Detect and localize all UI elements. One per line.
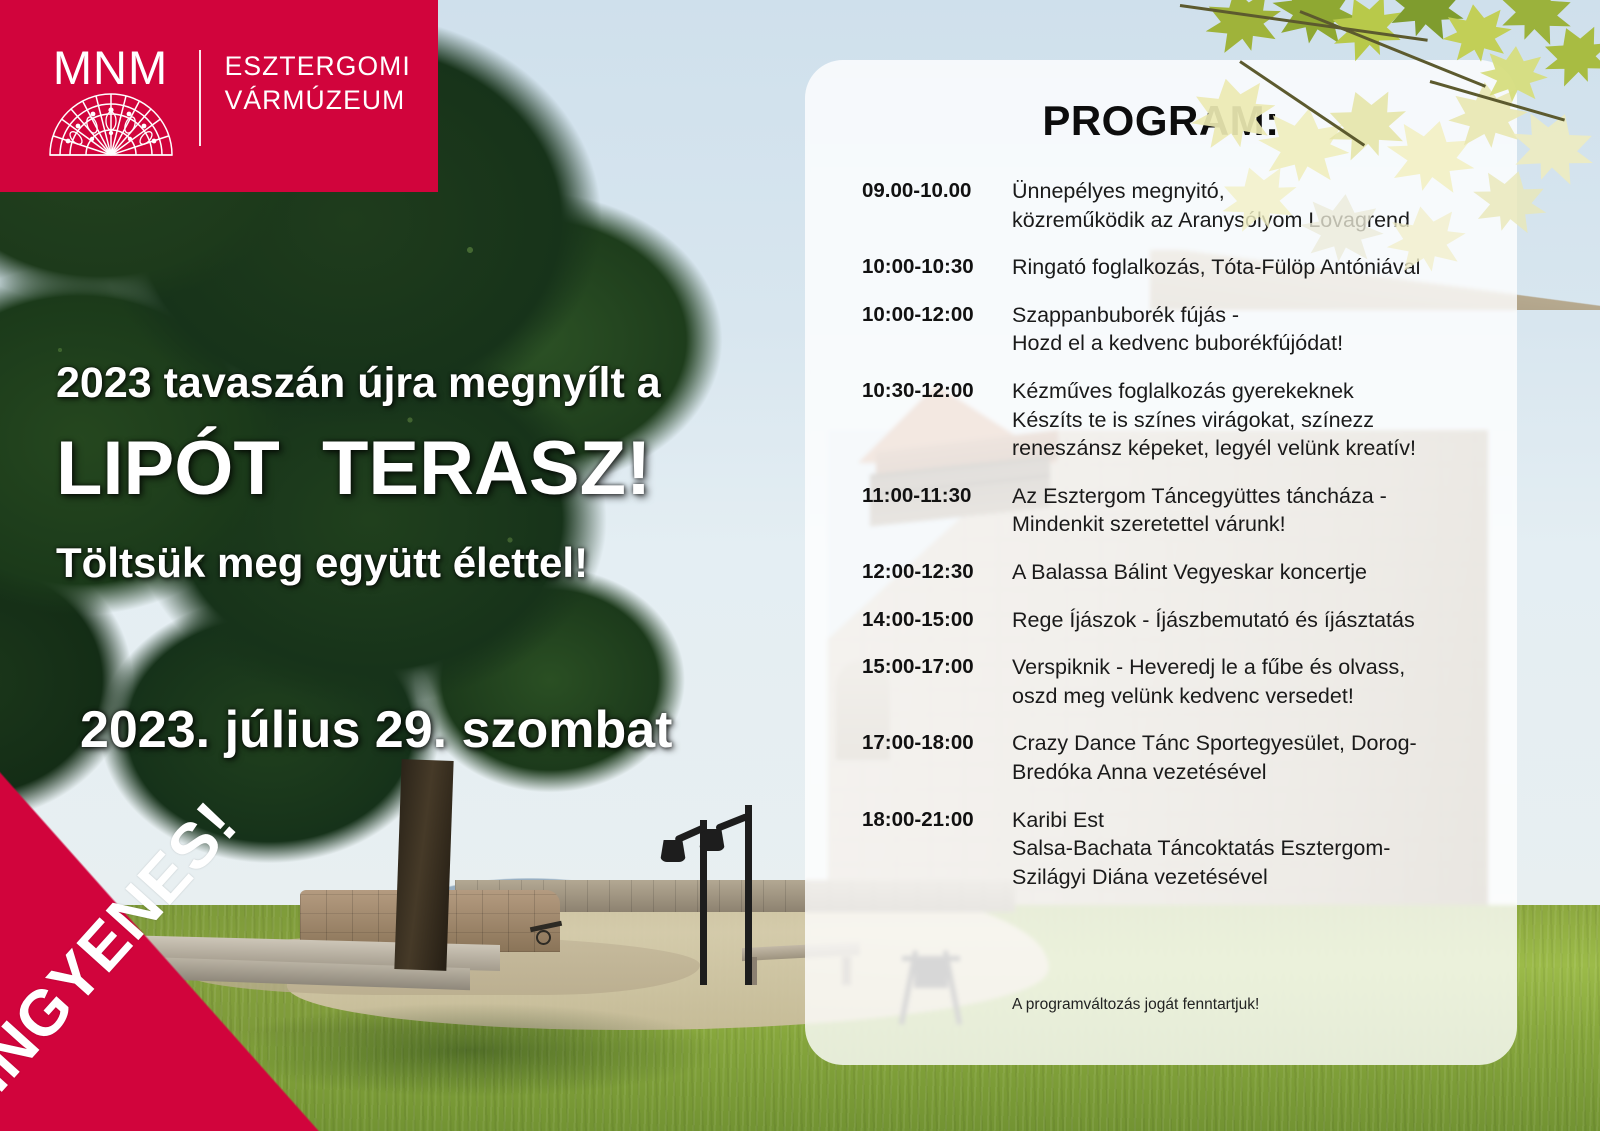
logo-divider — [199, 50, 201, 146]
program-item-description: Szappanbuborék fújás -Hozd el a kedvenc … — [1012, 301, 1343, 358]
program-item-line: Salsa-Bachata Táncoktatás Esztergom- — [1012, 834, 1390, 863]
program-item-line: oszd meg velünk kedvenc versedet! — [1012, 682, 1405, 711]
program-item-line: Bredóka Anna vezetésével — [1012, 758, 1417, 787]
headline-block: 2023 tavaszán újra megnyílt a LIPÓT TERA… — [56, 360, 756, 587]
program-item-time: 17:00-18:00 — [862, 729, 1012, 786]
museum-name-line1: ESZTERGOMI — [225, 50, 411, 84]
program-item-description: Crazy Dance Tánc Sportegyesület, Dorog-B… — [1012, 729, 1417, 786]
program-item-line: Szappanbuborék fújás - — [1012, 301, 1343, 330]
cannon-icon — [530, 920, 564, 946]
half-rosette-icon — [48, 93, 174, 157]
event-date: 2023. július 29. szombat — [80, 700, 672, 760]
museum-name: ESZTERGOMI VÁRMÚZEUM — [225, 44, 411, 118]
program-item: 11:00-11:30Az Esztergom Táncegyüttes tán… — [862, 482, 1483, 539]
program-item-description: Karibi EstSalsa-Bachata Táncoktatás Eszt… — [1012, 806, 1390, 892]
leaf-icon — [1212, 156, 1306, 241]
program-item-time: 10:00-12:00 — [862, 301, 1012, 358]
program-item-time: 12:00-12:30 — [862, 558, 1012, 587]
program-item: 17:00-18:00Crazy Dance Tánc Sportegyesül… — [862, 729, 1483, 786]
program-item: 15:00-17:00Verspiknik - Heveredj le a fű… — [862, 653, 1483, 710]
program-item-time: 10:00-10:30 — [862, 253, 1012, 282]
program-item: 10:00-12:00Szappanbuborék fújás -Hozd el… — [862, 301, 1483, 358]
program-item-description: Az Esztergom Táncegyüttes táncháza -Mind… — [1012, 482, 1387, 539]
program-item-description: Kézműves foglalkozás gyerekeknekKészíts … — [1012, 377, 1416, 463]
program-item-description: Verspiknik - Heveredj le a fűbe és olvas… — [1012, 653, 1405, 710]
logo-mark: MNM — [44, 44, 177, 157]
program-item-line: reneszánsz képeket, legyél velünk kreatí… — [1012, 434, 1416, 463]
program-item-time: 10:30-12:00 — [862, 377, 1012, 463]
leaf-icon — [1297, 190, 1388, 266]
program-item-line: Verspiknik - Heveredj le a fűbe és olvas… — [1012, 653, 1405, 682]
leaves-icon — [1180, 0, 1600, 300]
program-item-line: Az Esztergom Táncegyüttes táncháza - — [1012, 482, 1387, 511]
program-item-time: 14:00-15:00 — [862, 606, 1012, 635]
program-item-time: 18:00-21:00 — [862, 806, 1012, 892]
leaf-icon — [1381, 200, 1471, 279]
program-item-line: Crazy Dance Tánc Sportegyesület, Dorog- — [1012, 729, 1417, 758]
logo-acronym: MNM — [44, 44, 177, 91]
program-item: 18:00-21:00Karibi EstSalsa-Bachata Tánco… — [862, 806, 1483, 892]
program-item-line: Mindenkit szeretettel várunk! — [1012, 510, 1387, 539]
tree-trunk-icon — [394, 759, 453, 971]
program-item-description: A Balassa Bálint Vegyeskar koncertje — [1012, 558, 1367, 587]
headline-intro: 2023 tavaszán újra megnyílt a — [56, 360, 756, 407]
museum-name-line2: VÁRMÚZEUM — [225, 84, 411, 118]
program-item: 10:30-12:00Kézműves foglalkozás gyerekek… — [862, 377, 1483, 463]
program-item-time: 11:00-11:30 — [862, 482, 1012, 539]
brand-banner: MNM — [0, 0, 438, 192]
program-item-line: Készíts te is színes virágokat, színezz — [1012, 406, 1416, 435]
headline-main: LIPÓT TERASZ! — [56, 429, 756, 509]
headline-subtitle: Töltsük meg együtt élettel! — [56, 539, 756, 587]
program-disclaimer: A programváltozás jogát fenntartjuk! — [1012, 996, 1259, 1014]
program-item-description: Rege Íjászok - Íjászbemutató és íjásztat… — [1012, 606, 1415, 635]
program-item-time: 09.00-10.00 — [862, 177, 1012, 234]
program-item: 12:00-12:30A Balassa Bálint Vegyeskar ko… — [862, 558, 1483, 587]
program-item-time: 15:00-17:00 — [862, 653, 1012, 710]
program-item: 14:00-15:00Rege Íjászok - Íjászbemutató … — [862, 606, 1483, 635]
museum-logo: MNM — [44, 44, 411, 157]
program-item-line: Karibi Est — [1012, 806, 1390, 835]
program-item-line: Kézműves foglalkozás gyerekeknek — [1012, 377, 1416, 406]
program-item-line: Rege Íjászok - Íjászbemutató és íjásztat… — [1012, 606, 1415, 635]
program-item-line: Hozd el a kedvenc buborékfújódat! — [1012, 329, 1343, 358]
program-item-line: Szilágyi Diána vezetésével — [1012, 863, 1390, 892]
program-item-line: A Balassa Bálint Vegyeskar koncertje — [1012, 558, 1367, 587]
event-poster: PROGRAM: 09.00-10.00Ünnepélyes megnyitó,… — [0, 0, 1600, 1131]
